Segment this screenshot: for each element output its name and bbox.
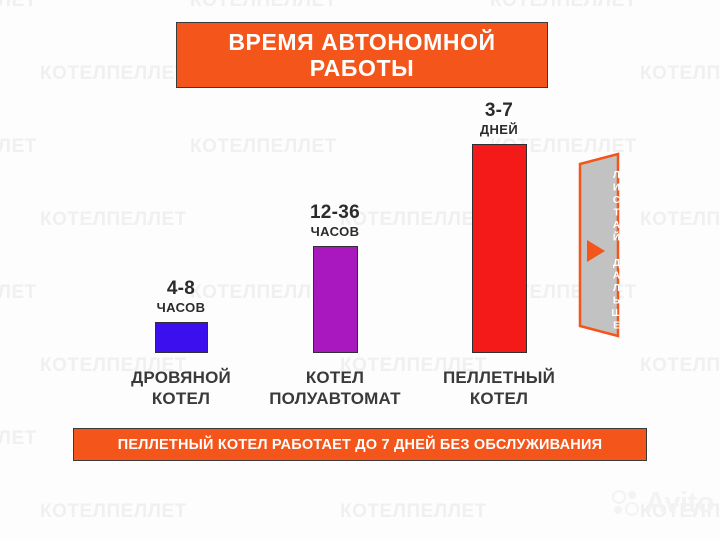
infographic-canvas: КОТЕЛПЕЛЛЕТКОТЕЛПЕЛЛЕТКОТЕЛПЕЛЛЕТКОТЕЛПЕ… (0, 0, 720, 540)
title-banner: ВРЕМЯ АВТОНОМНОЙ РАБОТЫ (176, 22, 548, 88)
bar-value-unit: ЧАСОВ (245, 225, 425, 239)
avito-wordmark: Avito (645, 489, 714, 518)
footer-banner: ПЕЛЛЕТНЫЙ КОТЕЛ РАБОТАЕТ ДО 7 ДНЕЙ БЕЗ О… (73, 428, 647, 461)
bar-value-number: 4-8 (91, 279, 271, 299)
bar-value-number: 3-7 (409, 101, 589, 121)
bar-value-label: 12-36ЧАСОВ (245, 203, 425, 239)
bar-value-unit: ДНЕЙ (409, 123, 589, 137)
avito-circles-icon (611, 488, 641, 518)
bar-value-number: 12-36 (245, 203, 425, 223)
bar-value-unit: ЧАСОВ (91, 301, 271, 315)
bar-category-label: ПЕЛЛЕТНЫЙ КОТЕЛ (399, 367, 599, 409)
swipe-banner-text-top: ЛИСТАЙ (576, 176, 622, 238)
footer-text: ПЕЛЛЕТНЫЙ КОТЕЛ РАБОТАЕТ ДО 7 ДНЕЙ БЕЗ О… (118, 437, 602, 453)
avito-watermark: Avito (611, 488, 714, 518)
page-title: ВРЕМЯ АВТОНОМНОЙ РАБОТЫ (228, 29, 495, 81)
chart-bar (313, 246, 358, 353)
chart-bar (472, 144, 527, 353)
swipe-banner-text-bottom: ДАЛЬШЕ (576, 260, 622, 330)
bar-value-label: 4-8ЧАСОВ (91, 279, 271, 315)
chart-bar (155, 322, 208, 353)
bar-value-label: 3-7ДНЕЙ (409, 101, 589, 137)
swipe-next-banner[interactable]: ЛИСТАЙ ДАЛЬШЕ (576, 152, 622, 338)
